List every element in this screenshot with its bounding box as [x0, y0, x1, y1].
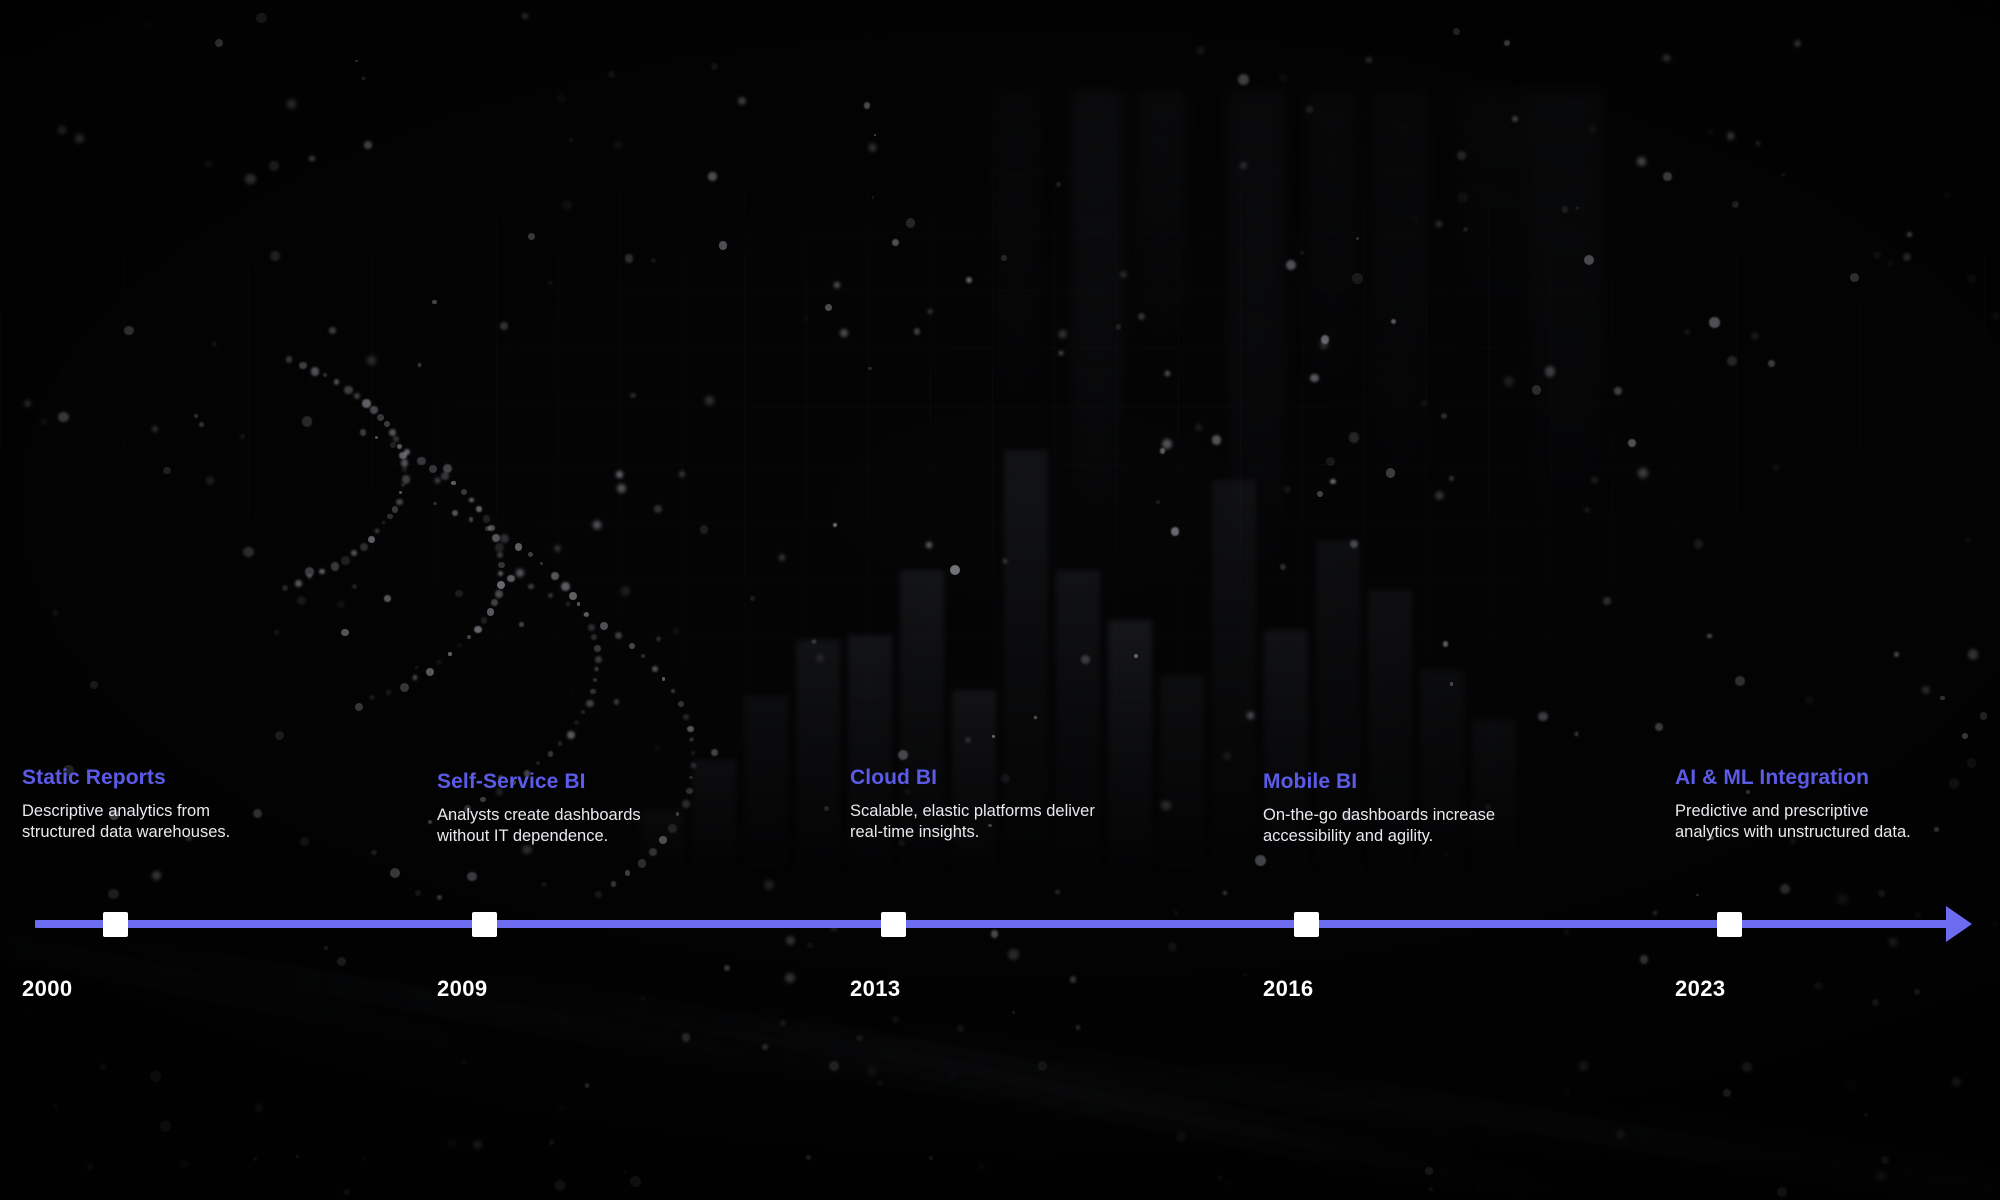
milestone-description: Predictive and prescriptive analytics wi… — [1675, 801, 1911, 843]
milestone-description: Analysts create dashboards without IT de… — [437, 805, 641, 847]
timeline-marker-2023[interactable] — [1717, 912, 1742, 937]
timeline-marker-2000[interactable] — [103, 912, 128, 937]
milestone-year: 2016 — [1263, 976, 1314, 1002]
timeline: Static ReportsDescriptive analytics from… — [0, 0, 2000, 1200]
milestone-year: 2013 — [850, 976, 901, 1002]
milestone-description: On-the-go dashboards increase accessibil… — [1263, 805, 1495, 847]
milestone-description: Descriptive analytics from structured da… — [22, 801, 230, 843]
milestone-2023: AI & ML IntegrationPredictive and prescr… — [1675, 766, 1911, 843]
timeline-marker-2013[interactable] — [881, 912, 906, 937]
milestone-title: AI & ML Integration — [1675, 766, 1911, 790]
timeline-axis — [35, 920, 1955, 928]
milestone-year: 2009 — [437, 976, 488, 1002]
milestone-title: Cloud BI — [850, 766, 1095, 790]
milestone-2000: Static ReportsDescriptive analytics from… — [22, 766, 230, 843]
arrow-right-icon — [1946, 906, 1972, 942]
timeline-marker-2016[interactable] — [1294, 912, 1319, 937]
milestone-year: 2000 — [22, 976, 73, 1002]
milestone-title: Self-Service BI — [437, 770, 641, 794]
timeline-marker-2009[interactable] — [472, 912, 497, 937]
milestone-2013: Cloud BIScalable, elastic platforms deli… — [850, 766, 1095, 843]
milestone-year: 2023 — [1675, 976, 1726, 1002]
milestone-description: Scalable, elastic platforms deliver real… — [850, 801, 1095, 843]
milestone-title: Mobile BI — [1263, 770, 1495, 794]
milestone-title: Static Reports — [22, 766, 230, 790]
milestone-2016: Mobile BIOn-the-go dashboards increase a… — [1263, 770, 1495, 847]
milestone-2009: Self-Service BIAnalysts create dashboard… — [437, 770, 641, 847]
